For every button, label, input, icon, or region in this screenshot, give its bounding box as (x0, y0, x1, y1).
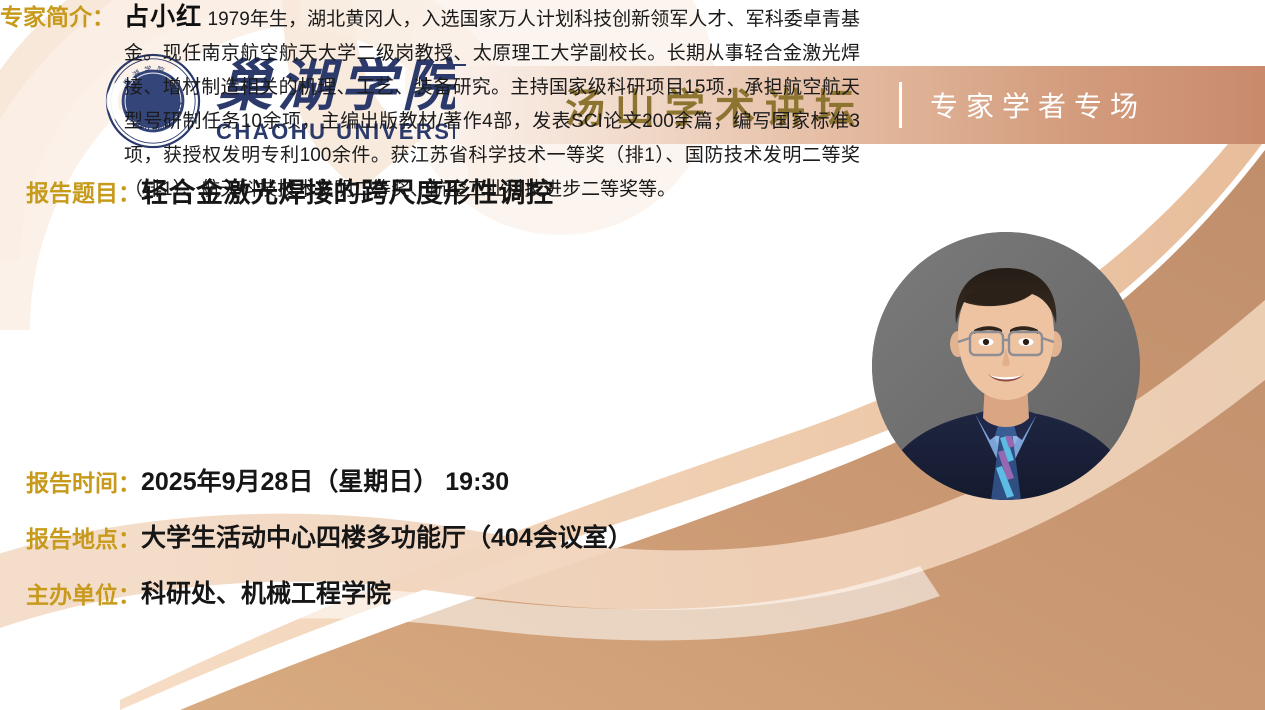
lecture-place-value: 大学生活动中心四楼多功能厅（404会议室） (141, 522, 633, 556)
poster-canvas: 1977 巢 湖 学 院 CHAOHU UNIVERSITY 巢湖学院 CHAO… (0, 0, 1265, 710)
lecture-host-row: 主办单位： 科研处、机械工程学院 (26, 578, 391, 612)
lecture-title-value: 轻合金激光焊接的跨尺度形性调控 (141, 176, 554, 211)
lecture-title-label: 报告题目： (26, 176, 141, 209)
lecture-host-label: 主办单位： (26, 578, 141, 611)
speaker-bio-label: 专家简介： (0, 0, 115, 34)
lecture-time-value: 2025年9月28日（星期日） 19:30 (141, 466, 509, 500)
lecture-time-row: 报告时间： 2025年9月28日（星期日） 19:30 (26, 466, 509, 500)
lecture-place-label: 报告地点： (26, 522, 141, 555)
lecture-title-row: 报告题目： 轻合金激光焊接的跨尺度形性调控 (26, 176, 554, 211)
speaker-bio-text: 1979年生，湖北黄冈人，入选国家万人计划科技创新领军人才、军科委卓青基金。现任… (124, 9, 860, 200)
poster-content: 报告题目： 轻合金激光焊接的跨尺度形性调控 专家简介： 占小红 1979年生，湖… (0, 0, 1265, 710)
speaker-name: 占小红 (124, 3, 202, 31)
lecture-host-value: 科研处、机械工程学院 (141, 578, 391, 612)
lecture-place-row: 报告地点： 大学生活动中心四楼多功能厅（404会议室） (26, 522, 633, 556)
lecture-time-label: 报告时间： (26, 466, 141, 499)
